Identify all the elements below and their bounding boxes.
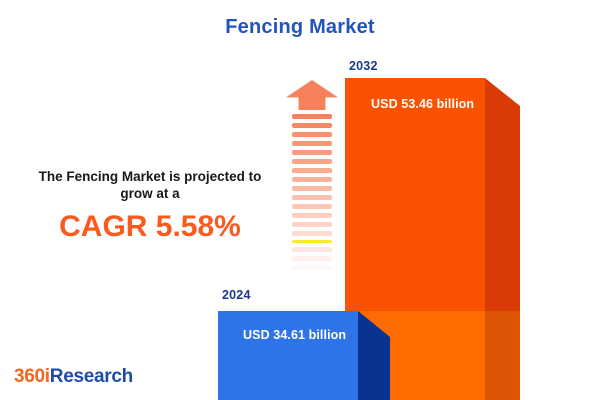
arrow-stripe xyxy=(292,114,332,119)
bar-value-2024: USD 34.61 billion xyxy=(243,328,346,342)
arrow-stripe xyxy=(292,177,332,182)
arrow-stripe xyxy=(292,213,332,218)
arrow-stripe xyxy=(292,265,332,270)
page-title: Fencing Market xyxy=(0,16,600,39)
bar-2024 xyxy=(218,311,358,400)
arrow-stripe xyxy=(292,132,332,137)
brand-logo: 360iResearch xyxy=(14,366,133,388)
bar-2032-side-shade-band xyxy=(485,311,520,400)
arrow-stripe xyxy=(292,168,332,173)
arrow-stripe xyxy=(292,186,332,191)
arrow-stripe xyxy=(292,159,332,164)
arrow-stripe xyxy=(292,195,332,200)
infographic-canvas: Fencing Market The Fencing Market is pro… xyxy=(0,0,600,400)
arrow-stripe xyxy=(292,256,332,261)
brand-logo-name: Research xyxy=(50,366,133,387)
arrow-stripe xyxy=(292,240,332,243)
cagr-value: CAGR 5.58% xyxy=(14,210,286,244)
growth-arrow-icon xyxy=(286,80,338,295)
bar-value-2032: USD 53.46 billion xyxy=(371,97,474,111)
arrow-stripe xyxy=(292,123,332,128)
statement-line-1: The Fencing Market is projected to xyxy=(14,168,286,185)
brand-logo-mark: 360i xyxy=(14,366,50,387)
arrow-stripe xyxy=(292,231,332,236)
arrow-stripe xyxy=(292,274,332,279)
arrow-stripe xyxy=(292,247,332,252)
arrow-stripe xyxy=(292,222,332,227)
statement-line-2: grow at a xyxy=(14,185,286,202)
bar-label-year-2024: 2024 xyxy=(222,288,251,302)
arrow-stripe xyxy=(292,141,332,146)
bar-label-year-2032: 2032 xyxy=(349,59,378,73)
growth-statement: The Fencing Market is projected to grow … xyxy=(14,168,286,244)
arrow-stripes xyxy=(292,114,332,294)
arrow-stripe xyxy=(292,204,332,209)
arrow-up-icon xyxy=(286,80,338,110)
bar-2024-front-face xyxy=(218,311,358,400)
arrow-stripe xyxy=(292,150,332,155)
